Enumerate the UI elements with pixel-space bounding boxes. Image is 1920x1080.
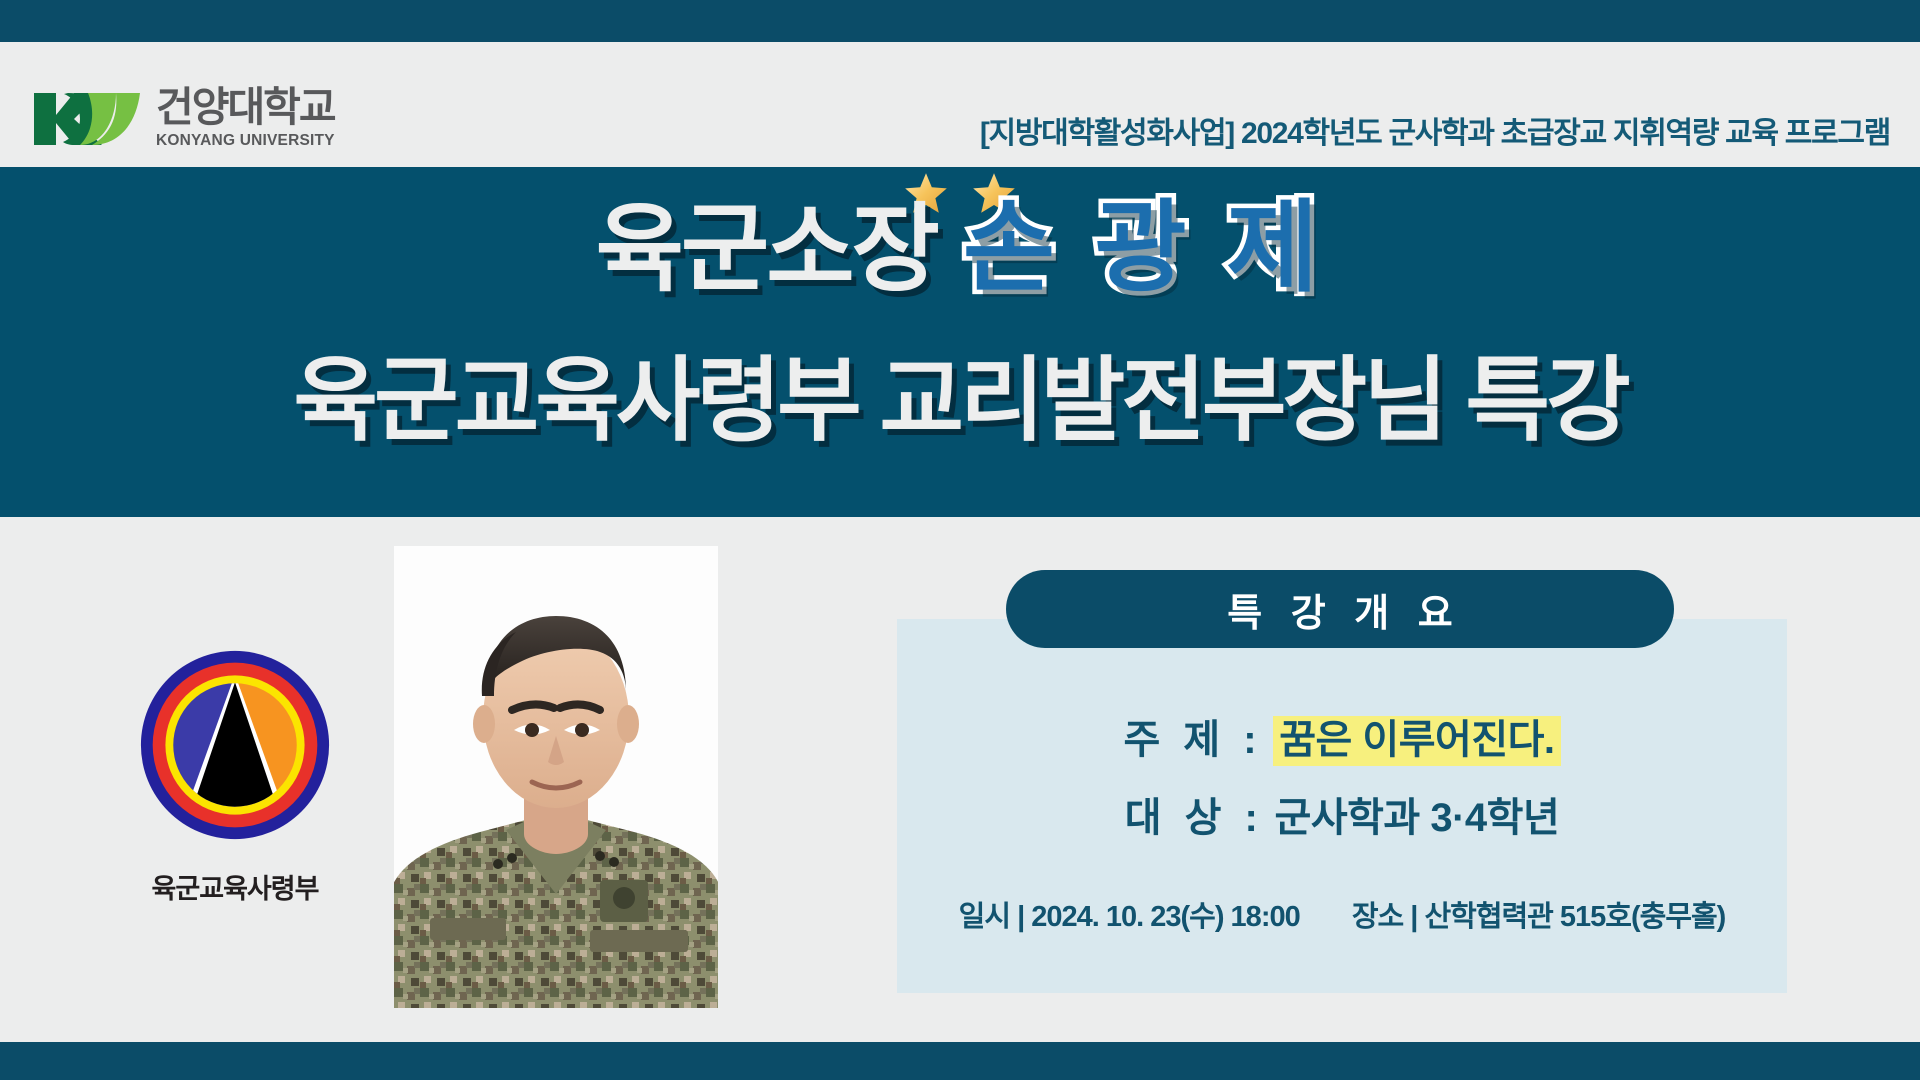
emblem-caption: 육군교육사령부 [110, 867, 360, 906]
audience-row: 대 상 : 군사학과 3·4학년 [897, 785, 1787, 843]
banner-title-line-2: 육군교육사령부 교리발전부장님 특강 [0, 355, 1920, 447]
subject-value: 꿈은 이루어진다. [1273, 716, 1560, 766]
university-logo: 건양대학교 KONYANG UNIVERSITY [30, 87, 335, 149]
speaker-portrait [394, 546, 718, 1008]
bottom-accent-strip [0, 1042, 1920, 1080]
konyang-ky-mark-icon [30, 87, 142, 149]
unit-emblem-block: 육군교육사령부 [110, 647, 360, 906]
speaker-portrait-image [394, 546, 718, 1008]
subject-label: 주 제 : [1123, 718, 1262, 762]
logo-korean-text: 건양대학교 [156, 87, 335, 128]
body-area: 육군교육사령부 [0, 517, 1920, 1042]
program-title: [지방대학활성화사업] 2024학년도 군사학과 초급장교 지휘역량 교육 프로… [700, 108, 1890, 152]
lecture-overview-label: 특 강 개 요 [1218, 582, 1462, 637]
date-value: 2024. 10. 23(수) 18:00 [1031, 901, 1299, 933]
audience-label: 대 상 : [1125, 796, 1264, 840]
lecture-overview-pill: 특 강 개 요 [1006, 570, 1674, 648]
top-accent-strip [0, 0, 1920, 42]
date-label: 일시 | [959, 901, 1025, 933]
subject-row: 주 제 : 꿈은 이루어진다. [897, 707, 1787, 765]
header-bar: 건양대학교 KONYANG UNIVERSITY [지방대학활성화사업] 202… [0, 42, 1920, 167]
army-training-command-emblem-icon [137, 647, 333, 843]
place-label: 장소 | [1352, 901, 1418, 933]
logo-wordmark: 건양대학교 KONYANG UNIVERSITY [156, 87, 335, 149]
logo-english-text: KONYANG UNIVERSITY [156, 133, 335, 149]
place-value: 산학협력관 515호(충무홀) [1424, 901, 1725, 933]
poster-root: 건양대학교 KONYANG UNIVERSITY [지방대학활성화사업] 202… [0, 0, 1920, 1080]
speaker-rank: 육군소장 [596, 196, 937, 303]
schedule-row: 일시 | 2024. 10. 23(수) 18:00 장소 | 산학협력관 51… [897, 893, 1787, 935]
audience-value: 군사학과 3·4학년 [1275, 796, 1560, 840]
speaker-name: 손 광 제 [963, 192, 1325, 304]
banner-title-line-1: 육군소장손 광 제 [0, 198, 1920, 298]
